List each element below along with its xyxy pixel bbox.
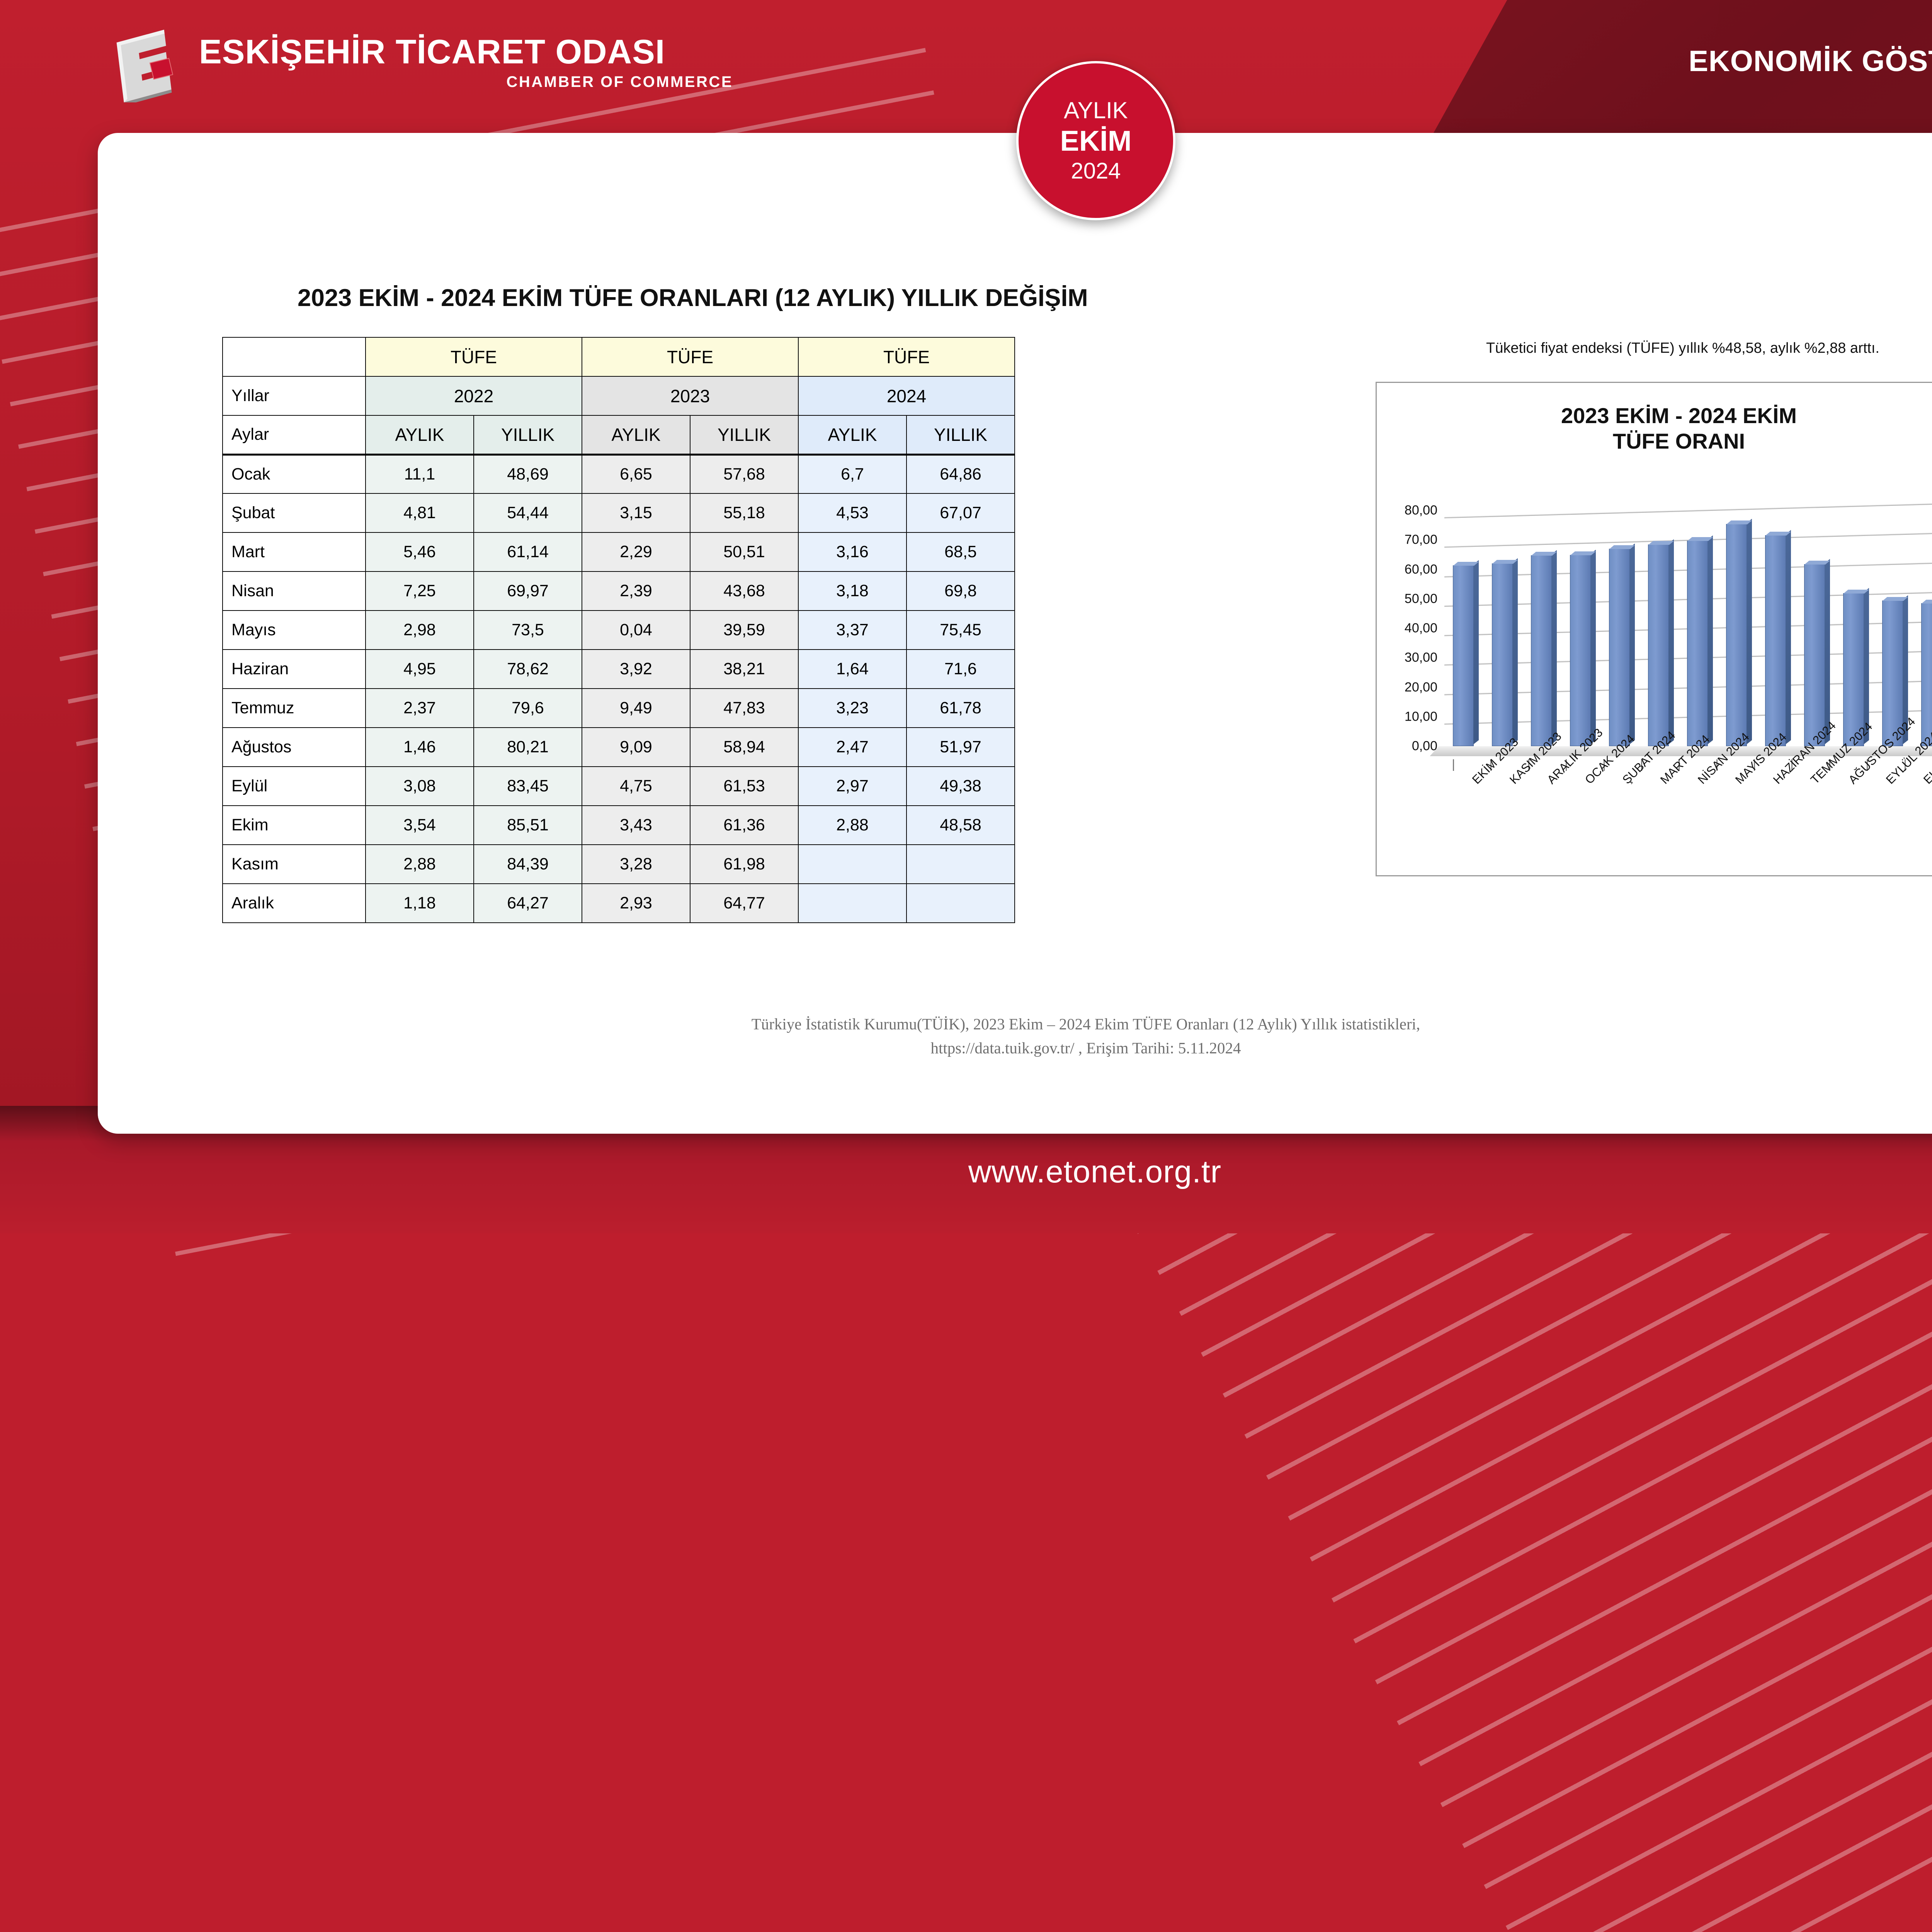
table-row: Mayıs2,9873,50,0439,593,3775,45 [223, 611, 1015, 650]
y-tick-label: 10,00 [1405, 709, 1437, 724]
cell-y2022-yillik: 64,27 [474, 884, 582, 923]
cell-y2022-yillik: 85,51 [474, 806, 582, 845]
cell-y2022-yillik: 48,69 [474, 454, 582, 493]
source-line-1: Türkiye İstatistik Kurumu(TÜİK), 2023 Ek… [591, 1012, 1580, 1036]
cell-y2024-yillik: 64,86 [906, 454, 1015, 493]
cell-y2024-yillik: 49,38 [906, 767, 1015, 806]
cell-y2022-yillik: 84,39 [474, 845, 582, 884]
bar-column [1804, 564, 1825, 746]
bar-column [1453, 565, 1474, 746]
table-row: Temmuz2,3779,69,4947,833,2361,78 [223, 689, 1015, 728]
cell-month: Ocak [223, 454, 366, 493]
table-row: Kasım2,8884,393,2861,98 [223, 845, 1015, 884]
cell-y2023-aylik: 2,29 [582, 532, 690, 571]
cell-y2024-aylik: 2,47 [798, 728, 906, 767]
cell-y2023-yillik: 55,18 [690, 493, 798, 532]
cell-y2023-yillik: 57,68 [690, 454, 798, 493]
cell-month: Ekim [223, 806, 366, 845]
cell-y2022-yillik: 83,45 [474, 767, 582, 806]
cell-month: Eylül [223, 767, 366, 806]
cell-month: Nisan [223, 571, 366, 611]
group-header-tufe-2023: TÜFE [582, 337, 798, 376]
bar-column [1687, 541, 1708, 746]
table-years-row: Yıllar202220232024 [223, 376, 1015, 415]
cell-y2024-aylik: 3,23 [798, 689, 906, 728]
table-row: Ekim3,5485,513,4361,362,8848,58 [223, 806, 1015, 845]
cell-y2022-aylik: 2,37 [366, 689, 474, 728]
cell-y2024-yillik: 68,5 [906, 532, 1015, 571]
cell-y2024-aylik: 1,64 [798, 650, 906, 689]
cell-y2022-aylik: 3,54 [366, 806, 474, 845]
source-line-2: https://data.tuik.gov.tr/ , Erişim Tarih… [591, 1036, 1580, 1060]
tufe-table: TÜFETÜFETÜFEYıllar202220232024AylarAYLIK… [222, 337, 1015, 923]
cell-y2023-yillik: 43,68 [690, 571, 798, 611]
subheader-2022-yillik: YILLIK [474, 415, 582, 454]
group-header-tufe-2022: TÜFE [366, 337, 582, 376]
year-header-2023: 2023 [582, 376, 798, 415]
cell-y2022-yillik: 69,97 [474, 571, 582, 611]
cell-y2023-aylik: 3,92 [582, 650, 690, 689]
group-header-blank [223, 337, 366, 376]
cell-y2022-yillik: 61,14 [474, 532, 582, 571]
cell-y2024-yillik: 51,97 [906, 728, 1015, 767]
chart-title-line2: TÜFE ORANI [1377, 429, 1932, 454]
table-row: Eylül3,0883,454,7561,532,9749,38 [223, 767, 1015, 806]
cell-y2022-aylik: 3,08 [366, 767, 474, 806]
cell-y2022-yillik: 79,6 [474, 689, 582, 728]
table-title: 2023 EKİM - 2024 EKİM TÜFE ORANLARI (12 … [298, 284, 1088, 312]
eto-e-logo-icon [110, 25, 184, 102]
cell-month: Aralık [223, 884, 366, 923]
period-badge: AYLIK EKİM 2024 [1016, 61, 1175, 220]
year-header-2024: 2024 [798, 376, 1015, 415]
chart-bars [1444, 510, 1932, 746]
y-tick-label: 20,00 [1405, 680, 1437, 695]
chart-container: 2023 EKİM - 2024 EKİM TÜFE ORANI 80,0070… [1376, 382, 1932, 876]
cell-y2024-aylik: 6,7 [798, 454, 906, 493]
y-tick-label: 50,00 [1405, 591, 1437, 606]
bar-column [1726, 524, 1747, 746]
brand-title: ESKİŞEHİR TİCARET ODASI [199, 32, 665, 71]
cell-y2022-yillik: 78,62 [474, 650, 582, 689]
cell-y2023-aylik: 2,93 [582, 884, 690, 923]
cell-y2023-yillik: 39,59 [690, 611, 798, 650]
table-group-header-row: TÜFETÜFETÜFE [223, 337, 1015, 376]
cell-y2022-aylik: 5,46 [366, 532, 474, 571]
row-label-months: Aylar [223, 415, 366, 454]
cell-y2022-aylik: 11,1 [366, 454, 474, 493]
y-tick-label: 80,00 [1405, 503, 1437, 518]
bar-column [1843, 593, 1864, 746]
cell-y2023-yillik: 61,53 [690, 767, 798, 806]
source-note: Türkiye İstatistik Kurumu(TÜİK), 2023 Ek… [591, 1012, 1580, 1060]
cell-y2023-aylik: 9,09 [582, 728, 690, 767]
cell-y2024-yillik: 69,8 [906, 571, 1015, 611]
y-tick-label: 30,00 [1405, 650, 1437, 665]
cell-y2023-yillik: 61,36 [690, 806, 798, 845]
badge-line-periodicity: AYLIK [1064, 98, 1128, 122]
badge-line-month: EKİM [1060, 122, 1132, 160]
bar-column [1921, 603, 1932, 746]
table-row: Ağustos1,4680,219,0958,942,4751,97 [223, 728, 1015, 767]
cell-y2024-aylik [798, 884, 906, 923]
subheader-2022-aylik: AYLIK [366, 415, 474, 454]
cell-y2024-aylik: 3,37 [798, 611, 906, 650]
cell-month: Ağustos [223, 728, 366, 767]
bar-column [1609, 549, 1630, 746]
website-url[interactable]: www.etonet.org.tr [0, 1154, 1932, 1190]
cell-y2022-aylik: 4,95 [366, 650, 474, 689]
cell-y2023-aylik: 2,39 [582, 571, 690, 611]
cell-y2024-yillik: 67,07 [906, 493, 1015, 532]
cell-y2023-aylik: 9,49 [582, 689, 690, 728]
chart-title-line1: 2023 EKİM - 2024 EKİM [1377, 403, 1932, 429]
cell-y2023-yillik: 47,83 [690, 689, 798, 728]
cell-y2022-aylik: 7,25 [366, 571, 474, 611]
bar-column [1765, 535, 1786, 746]
page-title: EKONOMİK GÖSTERGELER [1689, 44, 1932, 78]
y-tick-label: 60,00 [1405, 562, 1437, 577]
cell-month: Mart [223, 532, 366, 571]
cell-y2024-yillik: 48,58 [906, 806, 1015, 845]
cell-y2024-aylik: 3,18 [798, 571, 906, 611]
chart-note: Tüketici fiyat endeksi (TÜFE) yıllık %48… [1381, 340, 1932, 357]
cell-y2023-aylik: 0,04 [582, 611, 690, 650]
cell-y2023-aylik: 4,75 [582, 767, 690, 806]
table-subheader-row: AylarAYLIKYILLIKAYLIKYILLIKAYLIKYILLIK [223, 415, 1015, 454]
cell-y2024-aylik: 2,88 [798, 806, 906, 845]
cell-y2024-aylik: 3,16 [798, 532, 906, 571]
cell-y2023-yillik: 58,94 [690, 728, 798, 767]
chart-x-axis-labels: EKİM 2023KASIM 2023ARALIK 2023OCAK 2024Ş… [1444, 777, 1932, 893]
subheader-2023-aylik: AYLIK [582, 415, 690, 454]
cell-y2023-yillik: 64,77 [690, 884, 798, 923]
chart-y-axis-labels: 80,0070,0060,0050,0040,0030,0020,0010,00… [1377, 510, 1440, 746]
table-row: Ocak11,148,696,6557,686,764,86 [223, 454, 1015, 493]
y-tick-label: 40,00 [1405, 621, 1437, 636]
cell-y2024-yillik [906, 845, 1015, 884]
cell-y2023-aylik: 3,43 [582, 806, 690, 845]
y-tick-label: 70,00 [1405, 532, 1437, 548]
cell-month: Mayıs [223, 611, 366, 650]
cell-y2022-yillik: 80,21 [474, 728, 582, 767]
subheader-2024-aylik: AYLIK [798, 415, 906, 454]
year-header-2022: 2022 [366, 376, 582, 415]
cell-y2024-aylik [798, 845, 906, 884]
cell-y2023-aylik: 3,28 [582, 845, 690, 884]
bar-column [1531, 555, 1552, 746]
cell-y2022-aylik: 1,46 [366, 728, 474, 767]
table-row: Nisan7,2569,972,3943,683,1869,8 [223, 571, 1015, 611]
table-row: Aralık1,1864,272,9364,77 [223, 884, 1015, 923]
cell-y2024-yillik: 71,6 [906, 650, 1015, 689]
cell-month: Temmuz [223, 689, 366, 728]
cell-y2023-yillik: 61,98 [690, 845, 798, 884]
cell-y2022-aylik: 1,18 [366, 884, 474, 923]
cell-y2022-aylik: 2,88 [366, 845, 474, 884]
cell-y2023-aylik: 3,15 [582, 493, 690, 532]
cell-y2022-aylik: 4,81 [366, 493, 474, 532]
brand-logo-block: ESKİŞEHİR TİCARET ODASI CHAMBER OF COMME… [110, 25, 651, 106]
cell-month: Kasım [223, 845, 366, 884]
group-header-tufe-2024: TÜFE [798, 337, 1015, 376]
bar-column [1570, 555, 1591, 746]
brand-subtitle: CHAMBER OF COMMERCE [200, 73, 1092, 91]
cell-y2024-yillik: 75,45 [906, 611, 1015, 650]
subheader-2023-yillik: YILLIK [690, 415, 798, 454]
cell-y2022-aylik: 2,98 [366, 611, 474, 650]
badge-line-year: 2024 [1071, 160, 1121, 183]
chart-plot-area: 80,0070,0060,0050,0040,0030,0020,0010,00… [1444, 510, 1932, 746]
cell-y2024-aylik: 4,53 [798, 493, 906, 532]
cell-y2022-yillik: 73,5 [474, 611, 582, 650]
cell-y2023-yillik: 38,21 [690, 650, 798, 689]
cell-y2023-yillik: 50,51 [690, 532, 798, 571]
table-row: Mart5,4661,142,2950,513,1668,5 [223, 532, 1015, 571]
row-label-years: Yıllar [223, 376, 366, 415]
cell-y2022-yillik: 54,44 [474, 493, 582, 532]
bar-column [1492, 563, 1513, 746]
subheader-2024-yillik: YILLIK [906, 415, 1015, 454]
table-row: Şubat4,8154,443,1555,184,5367,07 [223, 493, 1015, 532]
cell-month: Haziran [223, 650, 366, 689]
table-row: Haziran4,9578,623,9238,211,6471,6 [223, 650, 1015, 689]
cell-y2024-yillik [906, 884, 1015, 923]
bar-column [1648, 544, 1669, 746]
cell-y2024-yillik: 61,78 [906, 689, 1015, 728]
cell-y2023-aylik: 6,65 [582, 454, 690, 493]
cell-y2024-aylik: 2,97 [798, 767, 906, 806]
chart-title: 2023 EKİM - 2024 EKİM TÜFE ORANI [1377, 403, 1932, 454]
cell-month: Şubat [223, 493, 366, 532]
